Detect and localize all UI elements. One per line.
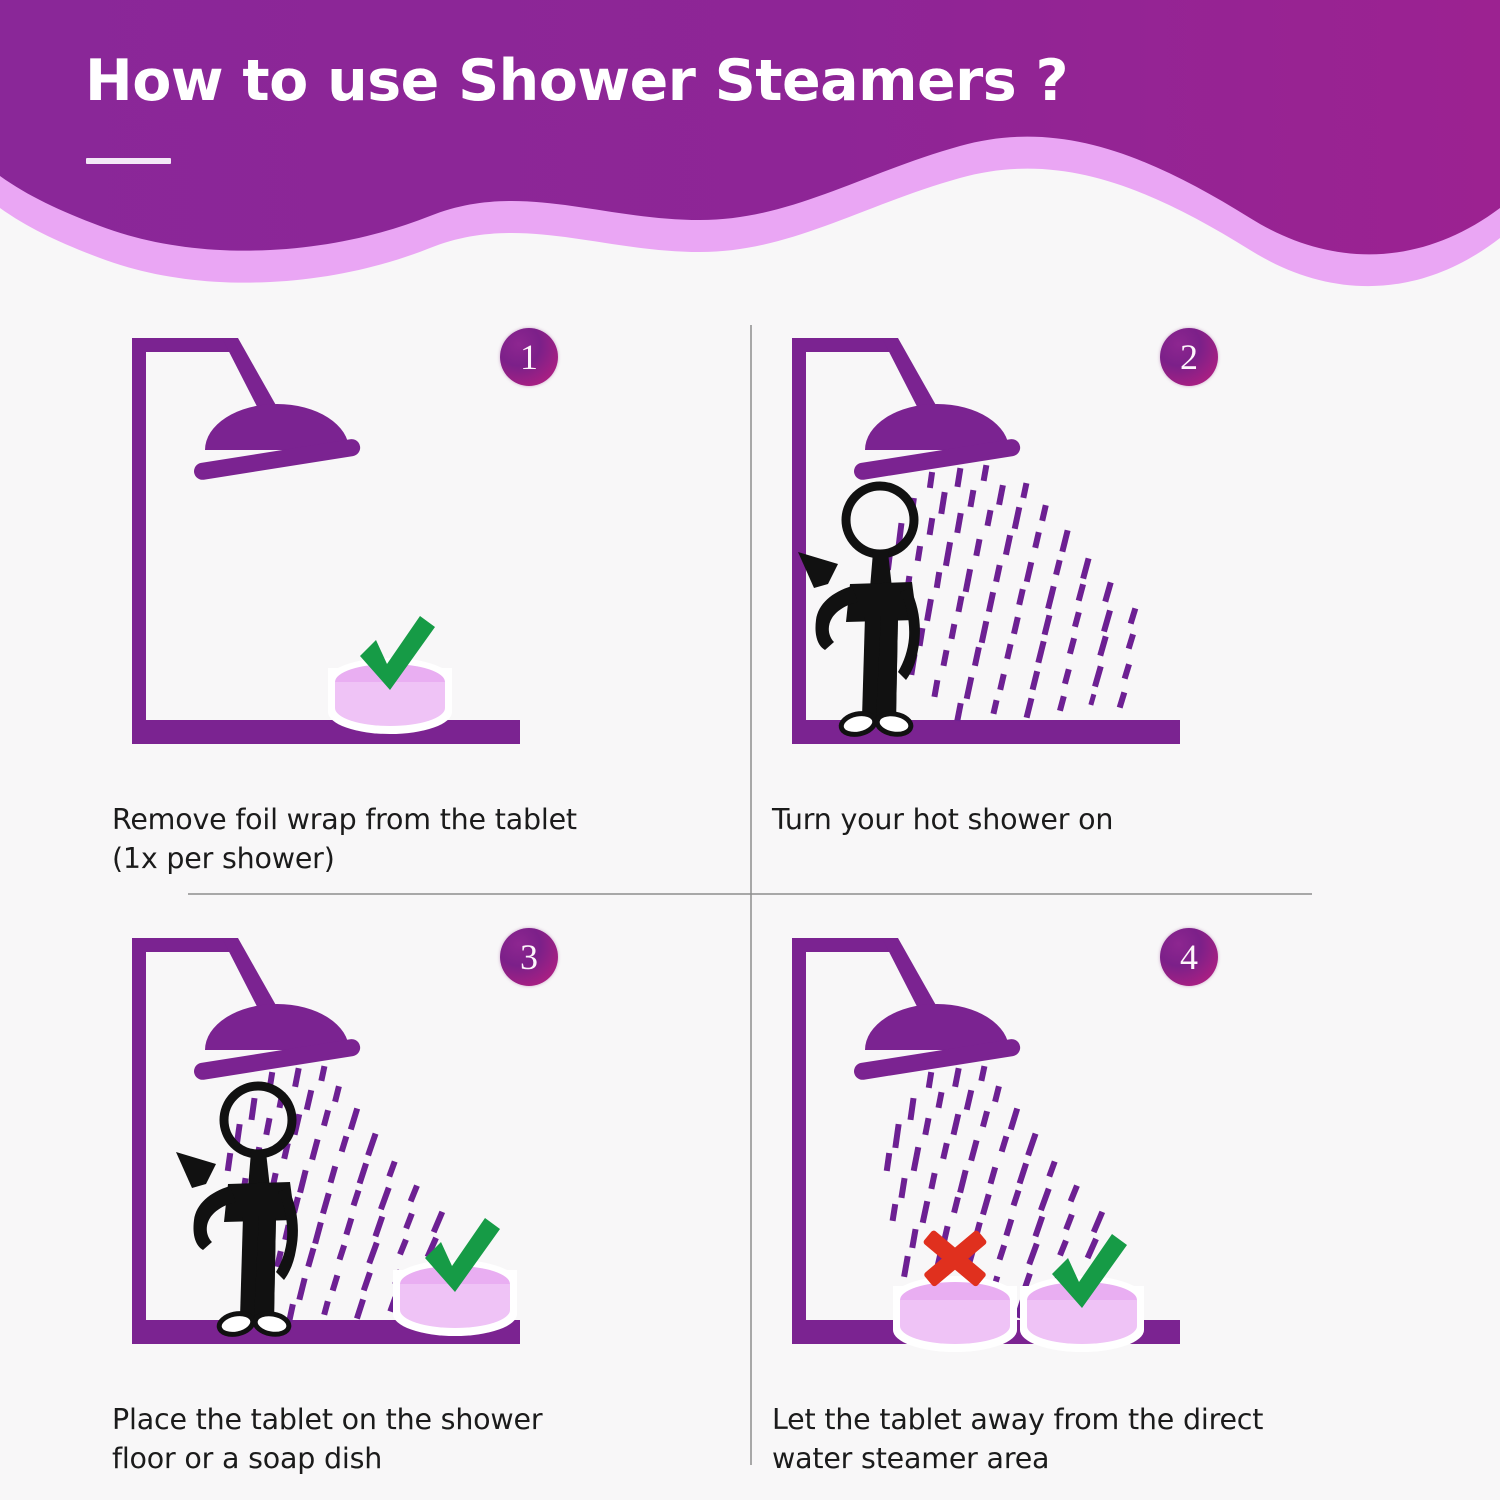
person-figure-3	[176, 1086, 298, 1337]
caption-line: floor or a soap dish	[112, 1439, 732, 1478]
step-caption-3: Place the tablet on the shower floor or …	[112, 1400, 732, 1479]
step-caption-1: Remove foil wrap from the tablet (1x per…	[112, 800, 732, 879]
caption-line: Let the tablet away from the direct	[772, 1400, 1392, 1439]
water-spray-2	[885, 465, 1138, 722]
header-wave-graphic	[0, 0, 1500, 290]
shower-head-2	[853, 404, 1022, 481]
step-1-illustration	[110, 320, 610, 790]
caption-line: Turn your hot shower on	[772, 800, 1392, 839]
caption-line: Place the tablet on the shower	[112, 1400, 732, 1439]
shower-enclosure-1	[132, 338, 520, 744]
step-number-badge-3: 3	[500, 928, 558, 986]
step-number-badge-1: 1	[500, 328, 558, 386]
page-title: How to use Shower Steamers ?	[85, 48, 1068, 114]
step-4-illustration	[770, 920, 1270, 1390]
step-panel-2: 2 Turn your hot shower on	[770, 300, 1410, 890]
step-number-badge-2: 2	[1160, 328, 1218, 386]
shower-scene-3	[110, 920, 610, 1390]
step-caption-4: Let the tablet away from the direct wate…	[772, 1400, 1392, 1479]
shower-scene-4	[770, 920, 1270, 1390]
shower-head-4	[853, 1004, 1022, 1081]
shower-scene-2	[770, 320, 1270, 790]
step-panel-3: 3 Place the tablet on the shower floor o…	[110, 900, 750, 1490]
caption-line: Remove foil wrap from the tablet	[112, 800, 732, 839]
caption-line: water steamer area	[772, 1439, 1392, 1478]
step-number-2: 2	[1180, 339, 1198, 375]
infographic-page: How to use Shower Steamers ?	[0, 0, 1500, 1500]
step-number-1: 1	[520, 339, 538, 375]
shower-head-3	[193, 1004, 362, 1081]
caption-line: (1x per shower)	[112, 839, 732, 878]
step-number-4: 4	[1180, 939, 1198, 975]
steps-grid: 1 Remove foil wrap from the tablet (1x p…	[0, 300, 1500, 1500]
step-panel-1: 1 Remove foil wrap from the tablet (1x p…	[110, 300, 750, 890]
step-number-3: 3	[520, 939, 538, 975]
step-panel-4: 4 Let the tablet away from the direct wa…	[770, 900, 1410, 1490]
tablet-4-left	[893, 1276, 1017, 1352]
grid-vertical-divider	[750, 325, 752, 1465]
step-caption-2: Turn your hot shower on	[772, 800, 1392, 839]
shower-scene-1	[110, 320, 610, 790]
grid-horizontal-divider	[188, 893, 1312, 895]
step-3-illustration	[110, 920, 610, 1390]
shower-head-1	[193, 404, 362, 481]
step-number-badge-4: 4	[1160, 928, 1218, 986]
step-2-illustration	[770, 320, 1270, 790]
header-banner: How to use Shower Steamers ?	[0, 0, 1500, 290]
title-underline-rule	[86, 158, 171, 164]
